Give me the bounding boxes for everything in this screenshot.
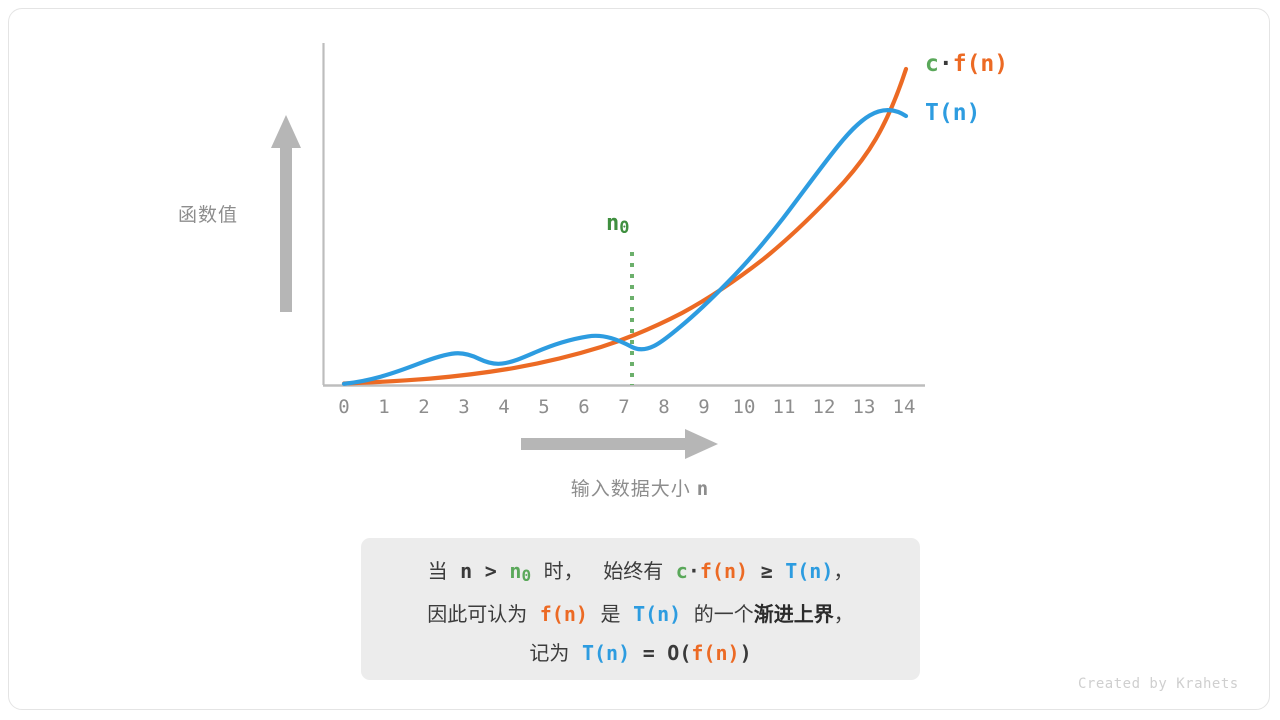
x-tick-13: 13 bbox=[844, 396, 884, 418]
legend-t-n-symbol: T(n) bbox=[925, 100, 980, 126]
caption-line-1: 当 n > n0 时， 始终有 c·f(n) ≥ T(n)， bbox=[361, 552, 920, 595]
caption-line-3: 记为 T(n) = O(f(n)) bbox=[361, 634, 920, 673]
caption-box: 当 n > n0 时， 始终有 c·f(n) ≥ T(n)， 因此可认为 f(n… bbox=[361, 538, 920, 680]
caption-l1-n0-base: n bbox=[509, 559, 521, 583]
caption-l1-t4: ， bbox=[833, 561, 853, 583]
y-direction-arrow bbox=[271, 115, 301, 312]
n0-base: n bbox=[606, 211, 619, 236]
x-axis-label-text: 输入数据大小 bbox=[571, 479, 691, 500]
curve-t-n-main bbox=[344, 110, 906, 384]
caption-l1-t2: 时， bbox=[544, 561, 584, 583]
caption-l2-t5: ， bbox=[834, 604, 854, 626]
credit-text: Created by Krahets bbox=[1078, 676, 1239, 692]
caption-l1-n0: n0 bbox=[509, 559, 531, 583]
x-tick-10: 10 bbox=[724, 396, 764, 418]
caption-l1-geq: ≥ bbox=[761, 559, 773, 583]
x-tick-9: 9 bbox=[684, 396, 724, 418]
caption-l1-fn: f(n) bbox=[700, 559, 748, 583]
x-tick-3: 3 bbox=[444, 396, 484, 418]
x-tick-12: 12 bbox=[804, 396, 844, 418]
n0-subscript: 0 bbox=[619, 218, 629, 238]
legend-f-n-symbol: f(n) bbox=[953, 51, 1008, 77]
x-tick-14: 14 bbox=[884, 396, 924, 418]
caption-l2-emphasis: 渐进上界 bbox=[754, 604, 834, 626]
x-tick-7: 7 bbox=[604, 396, 644, 418]
x-tick-0: 0 bbox=[324, 396, 364, 418]
caption-l3-t1: 记为 bbox=[529, 643, 569, 665]
x-axis-label: 输入数据大小n bbox=[0, 474, 1280, 501]
caption-l1-dot-icon: · bbox=[688, 559, 700, 583]
legend-c-symbol: c bbox=[925, 51, 939, 77]
x-tick-1: 1 bbox=[364, 396, 404, 418]
caption-l1-tn: T(n) bbox=[785, 559, 833, 583]
n0-marker-label: n0 bbox=[606, 211, 630, 238]
x-tick-2: 2 bbox=[404, 396, 444, 418]
caption-l3-fn: f(n) bbox=[691, 641, 739, 665]
caption-l3-eq: = bbox=[643, 641, 655, 665]
caption-l1-n0-sub: 0 bbox=[521, 566, 531, 585]
x-axis-label-var: n bbox=[691, 478, 709, 500]
caption-l3-close-paren: ) bbox=[740, 641, 752, 665]
caption-l2-tn: T(n) bbox=[633, 602, 681, 626]
caption-l1-c: c bbox=[676, 559, 688, 583]
caption-l2-fn: f(n) bbox=[540, 602, 588, 626]
x-tick-8: 8 bbox=[644, 396, 684, 418]
caption-l1-t3: 始终有 bbox=[603, 561, 663, 583]
y-axis-label: 函数值 bbox=[178, 200, 238, 227]
legend-item-t-n: T(n) bbox=[925, 100, 980, 126]
caption-line-2: 因此可认为 f(n) 是 T(n) 的一个渐进上界， bbox=[361, 595, 920, 634]
caption-l2-t3: 的一个 bbox=[694, 604, 754, 626]
caption-l2-t2: 是 bbox=[601, 604, 621, 626]
caption-l1-n: n bbox=[460, 559, 472, 583]
caption-l3-tn: T(n) bbox=[582, 641, 630, 665]
caption-l1-t1: 当 bbox=[428, 561, 448, 583]
x-tick-11: 11 bbox=[764, 396, 804, 418]
legend-dot-icon: · bbox=[939, 51, 953, 77]
caption-l2-t1: 因此可认为 bbox=[427, 604, 527, 626]
caption-l3-big-o: O( bbox=[667, 641, 691, 665]
x-direction-arrow bbox=[521, 429, 718, 459]
x-tick-6: 6 bbox=[564, 396, 604, 418]
caption-l1-gt: > bbox=[485, 559, 497, 583]
figure-canvas: 0 1 2 3 4 5 6 7 8 9 10 11 12 13 14 函数值 输… bbox=[0, 0, 1280, 720]
x-tick-5: 5 bbox=[524, 396, 564, 418]
x-tick-4: 4 bbox=[484, 396, 524, 418]
legend-item-c-f-n: c·f(n) bbox=[925, 51, 1008, 77]
